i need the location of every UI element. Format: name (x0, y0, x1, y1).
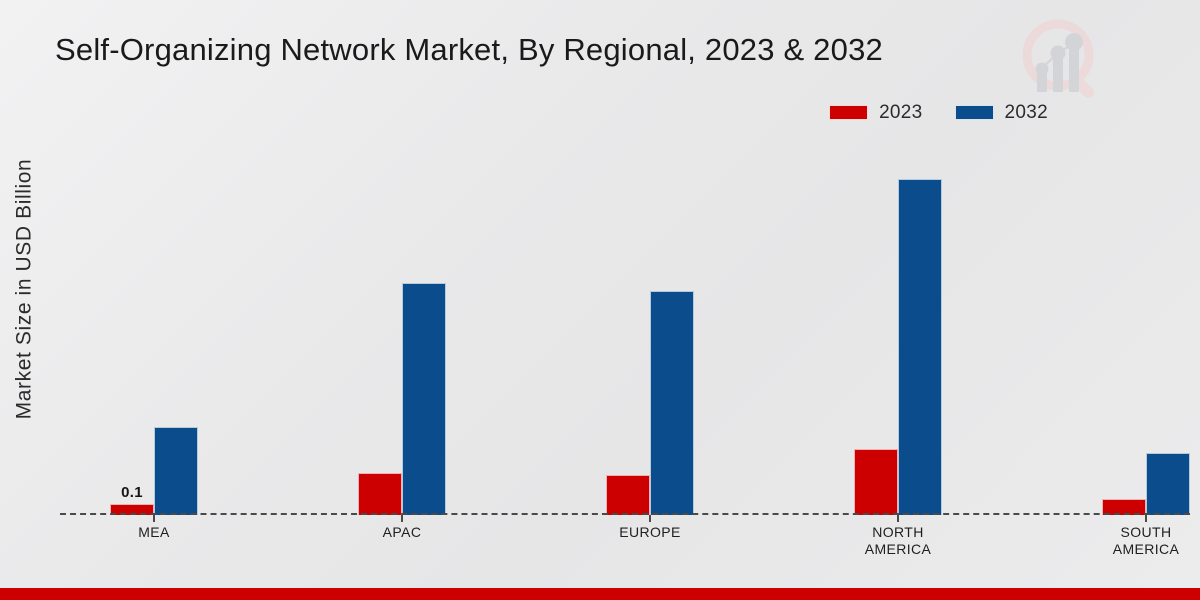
y-axis-title: Market Size in USD Billion (2, 0, 46, 600)
legend-label-2032: 2032 (1005, 103, 1048, 122)
chart-container: Self-Organizing Network Market, By Regio… (0, 0, 1200, 600)
category-label-line: NORTH (872, 524, 924, 540)
category-label-line: MEA (138, 524, 170, 540)
axis-tick (897, 515, 899, 522)
chart-title: Self-Organizing Network Market, By Regio… (55, 32, 883, 68)
y-axis-title-text: Market Size in USD Billion (12, 159, 36, 420)
axis-tick (401, 515, 403, 522)
legend-swatch-2023-icon (829, 105, 868, 120)
bar-group-north-america: NORTHAMERICA (854, 150, 942, 515)
category-label-mea: MEA (84, 524, 224, 541)
bar-2023-europe[interactable] (606, 475, 650, 515)
watermark-logo-icon (1008, 8, 1112, 108)
bar-2032-mea[interactable] (154, 427, 198, 515)
category-label-line: AMERICA (828, 541, 968, 558)
axis-tick (649, 515, 651, 522)
bar-value-label-mea: 0.1 (110, 484, 154, 501)
plot-area: 0.1MEAAPACEUROPENORTHAMERICASOUTHAMERICA (60, 150, 1190, 515)
bar-pair (854, 150, 942, 515)
category-label-line: SOUTH (1121, 524, 1172, 540)
bars-layer: 0.1MEAAPACEUROPENORTHAMERICASOUTHAMERICA (60, 150, 1190, 515)
bar-group-europe: EUROPE (606, 150, 694, 515)
legend-item-2023[interactable]: 2023 (829, 103, 922, 122)
legend-item-2032[interactable]: 2032 (955, 103, 1048, 122)
bar-2032-europe[interactable] (650, 291, 694, 515)
category-label-line: EUROPE (619, 524, 681, 540)
category-label-north-america: NORTHAMERICA (828, 524, 968, 558)
axis-tick (153, 515, 155, 522)
bar-pair (1102, 150, 1190, 515)
category-label-line: APAC (383, 524, 422, 540)
bar-pair (606, 150, 694, 515)
bar-group-apac: APAC (358, 150, 446, 515)
axis-tick (1145, 515, 1147, 522)
legend-swatch-2032-icon (955, 105, 994, 120)
bar-pair (110, 150, 198, 515)
legend-label-2023: 2023 (879, 103, 922, 122)
bar-pair (358, 150, 446, 515)
bar-2032-south-america[interactable] (1146, 453, 1190, 515)
bar-2032-apac[interactable] (402, 283, 446, 515)
bar-2032-north-america[interactable] (898, 179, 942, 515)
category-label-apac: APAC (332, 524, 472, 541)
bottom-accent-stripe (0, 588, 1200, 600)
category-label-south-america: SOUTHAMERICA (1076, 524, 1200, 558)
bar-2023-apac[interactable] (358, 473, 402, 515)
x-axis-baseline (60, 513, 1190, 515)
category-label-line: AMERICA (1076, 541, 1200, 558)
bar-group-south-america: SOUTHAMERICA (1102, 150, 1190, 515)
bar-2023-north-america[interactable] (854, 449, 898, 515)
category-label-europe: EUROPE (580, 524, 720, 541)
bar-group-mea: 0.1MEA (110, 150, 198, 515)
chart-legend: 2023 2032 (829, 103, 1048, 122)
